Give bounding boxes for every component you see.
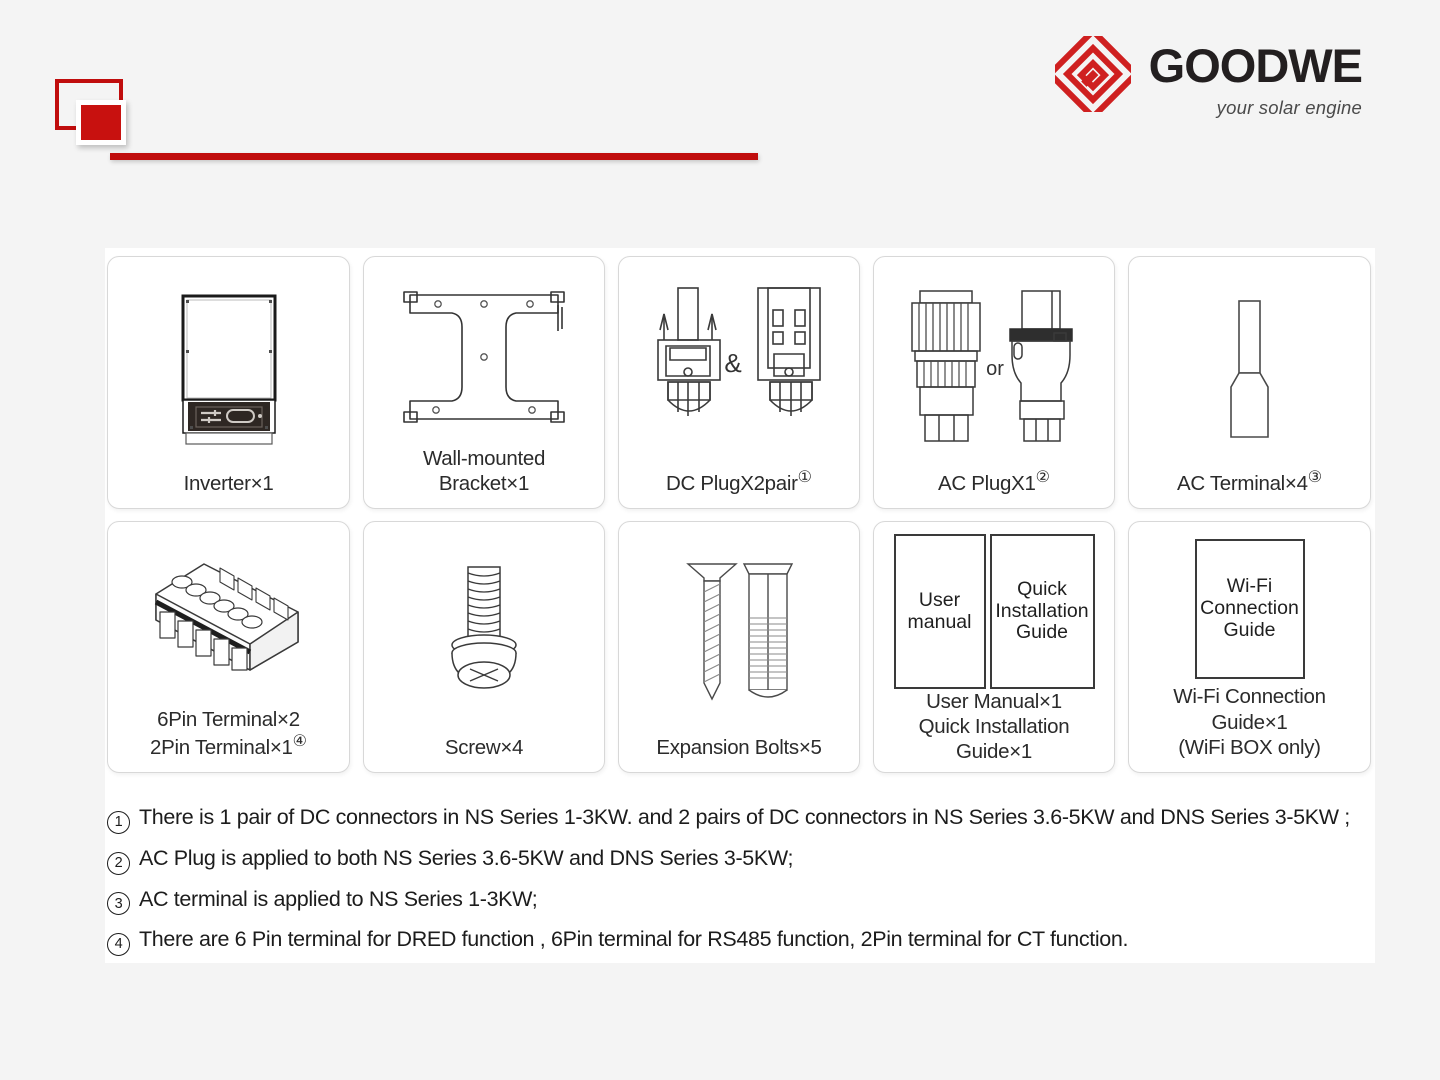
wall-mounted-bracket-illustration xyxy=(370,269,598,446)
wifi-connection-guide-illustration: Wi-Fi Connection Guide xyxy=(1135,534,1364,684)
screw-illustration xyxy=(370,534,598,735)
card-wifi-connection-guide[interactable]: Wi-Fi Connection Guide Wi-Fi Connection … xyxy=(1128,521,1371,773)
brand-tagline: your solar engine xyxy=(1149,97,1362,119)
goodwe-diamond-spiral-logo xyxy=(1055,36,1131,112)
footnote-number: 3 xyxy=(107,892,130,915)
footnote-text: AC terminal is applied to NS Series 1-3K… xyxy=(139,888,1377,912)
card-caption: Screw×4 xyxy=(445,735,523,762)
card-caption-superscript: ③ xyxy=(1308,469,1322,486)
dc-plug-conjunction: & xyxy=(724,348,741,378)
slide-canvas: GOODWE your solar engine xyxy=(0,0,1440,1080)
red-horizontal-rule xyxy=(110,153,758,160)
wifi-guide-doc-icon: Wi-Fi Connection Guide xyxy=(1195,539,1305,679)
card-caption: Expansion Bolts×5 xyxy=(656,735,821,762)
card-caption-text: 6Pin Terminal×2 2Pin Terminal×1 xyxy=(150,708,300,759)
expansion-bolts-illustration xyxy=(625,534,853,735)
card-caption-superscript: ④ xyxy=(293,733,307,750)
inverter-illustration xyxy=(114,269,343,471)
footnote-number: 1 xyxy=(107,811,130,834)
user-manual-doc-icon: User manual xyxy=(894,534,986,689)
footnote-number: 2 xyxy=(107,852,130,875)
ac-terminal-illustration xyxy=(1135,269,1364,468)
card-caption: DC PlugX2pair① xyxy=(666,468,812,498)
footnote-2: 2 AC Plug is applied to both NS Series 3… xyxy=(107,847,1377,873)
footnote-3: 3 AC terminal is applied to NS Series 1-… xyxy=(107,888,1377,914)
packing-list-row-2: 6Pin Terminal×2 2Pin Terminal×1④ xyxy=(107,521,1371,773)
footnote-text: AC Plug is applied to both NS Series 3.6… xyxy=(139,847,1377,871)
dc-plug-pair-illustration: & xyxy=(625,269,853,468)
card-ac-terminal[interactable]: AC Terminal×4③ xyxy=(1128,256,1371,509)
card-dc-plug[interactable]: & DC PlugX2pair① xyxy=(618,256,860,509)
card-expansion-bolts[interactable]: Expansion Bolts×5 xyxy=(618,521,860,773)
card-caption-text: AC PlugX1 xyxy=(938,472,1036,495)
footnote-number: 4 xyxy=(107,933,130,956)
card-ac-plug[interactable]: or AC PlugX1② xyxy=(873,256,1115,509)
card-caption-superscript: ② xyxy=(1036,469,1050,486)
card-caption: Inverter×1 xyxy=(184,471,274,498)
card-caption: 6Pin Terminal×2 2Pin Terminal×1④ xyxy=(150,707,307,762)
brand-name: GOODWE xyxy=(1149,42,1362,89)
footnote-list: 1 There is 1 pair of DC connectors in NS… xyxy=(107,806,1377,969)
card-user-manual[interactable]: User manual Quick Installation Guide Use… xyxy=(873,521,1115,773)
brand-lockup: GOODWE your solar engine xyxy=(1055,36,1362,119)
footnote-1: 1 There is 1 pair of DC connectors in NS… xyxy=(107,806,1377,832)
card-pin-terminal[interactable]: 6Pin Terminal×2 2Pin Terminal×1④ xyxy=(107,521,350,773)
ac-plug-conjunction: or xyxy=(986,358,1004,380)
footnote-text: There are 6 Pin terminal for DRED functi… xyxy=(139,928,1377,952)
packing-list-row-1: Inverter×1 xyxy=(107,256,1371,509)
footnote-text: There is 1 pair of DC connectors in NS S… xyxy=(139,806,1377,830)
card-caption-superscript: ① xyxy=(798,469,812,486)
footnote-4: 4 There are 6 Pin terminal for DRED func… xyxy=(107,928,1377,954)
card-wall-mounted-bracket[interactable]: Wall-mounted Bracket×1 xyxy=(363,256,605,509)
ac-plug-illustration: or xyxy=(880,269,1108,468)
6pin-terminal-block-illustration xyxy=(114,534,343,707)
card-caption: User Manual×1 Quick Installation Guide×1 xyxy=(919,689,1070,767)
card-caption: AC PlugX1② xyxy=(938,468,1050,498)
packing-list-grid: Inverter×1 xyxy=(107,256,1371,785)
card-caption: Wall-mounted Bracket×1 xyxy=(423,446,545,498)
solid-square-decoration xyxy=(76,100,126,145)
card-caption: Wi-Fi Connection Guide×1 (WiFi BOX only) xyxy=(1173,684,1325,762)
card-caption: AC Terminal×4③ xyxy=(1177,468,1322,498)
user-manual-and-quick-guide-illustration: User manual Quick Installation Guide xyxy=(880,534,1108,689)
card-inverter[interactable]: Inverter×1 xyxy=(107,256,350,509)
quick-installation-guide-doc-icon: Quick Installation Guide xyxy=(990,534,1095,689)
card-screw[interactable]: Screw×4 xyxy=(363,521,605,773)
card-caption-text: AC Terminal×4 xyxy=(1177,472,1308,495)
card-caption-text: DC PlugX2pair xyxy=(666,472,798,495)
